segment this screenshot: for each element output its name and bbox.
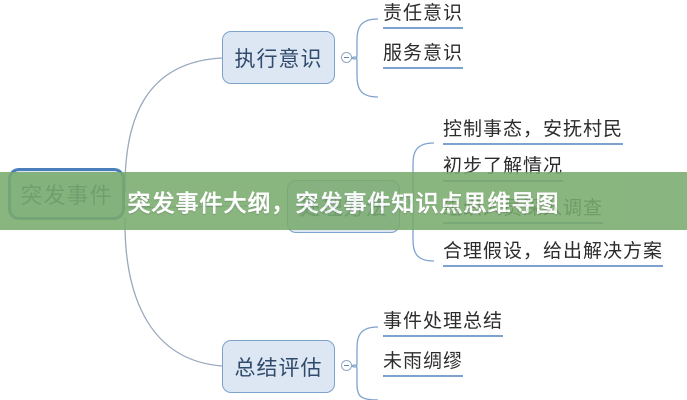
- mindmap-branch-label-0: 执行意识: [235, 43, 323, 73]
- mindmap-branch-label-2: 总结评估: [235, 352, 323, 382]
- mindmap-branch-node-2[interactable]: 总结评估: [222, 340, 335, 393]
- bracket-branch-2: [350, 327, 378, 400]
- bracket-branch-0: [350, 19, 378, 97]
- mindmap-leaf-2-0[interactable]: 事件处理总结: [383, 312, 503, 337]
- mindmap-leaf-1-0[interactable]: 控制事态，安抚村民: [443, 120, 623, 145]
- mindmap-leaf-2-1[interactable]: 未雨绸缪: [383, 352, 463, 377]
- watermark-banner: 突发事件大纲，突发事件知识点思维导图: [0, 172, 687, 230]
- collapse-toggle-icon-0[interactable]: [341, 52, 352, 63]
- mindmap-leaf-0-1[interactable]: 服务意识: [383, 44, 463, 69]
- mindmap-leaf-0-0[interactable]: 责任意识: [383, 4, 463, 29]
- mindmap-branch-node-0[interactable]: 执行意识: [222, 31, 335, 84]
- mindmap-canvas: 突发事件 执行意识 责任意识 服务意识 处理方法 控制事态，安抚村民 初步了解情…: [0, 0, 687, 400]
- watermark-banner-text: 突发事件大纲，突发事件知识点思维导图: [128, 184, 560, 218]
- collapse-toggle-icon-2[interactable]: [341, 360, 352, 371]
- mindmap-leaf-1-3[interactable]: 合理假设，给出解决方案: [443, 242, 663, 267]
- connector-root-to-branch-2: [125, 218, 222, 366]
